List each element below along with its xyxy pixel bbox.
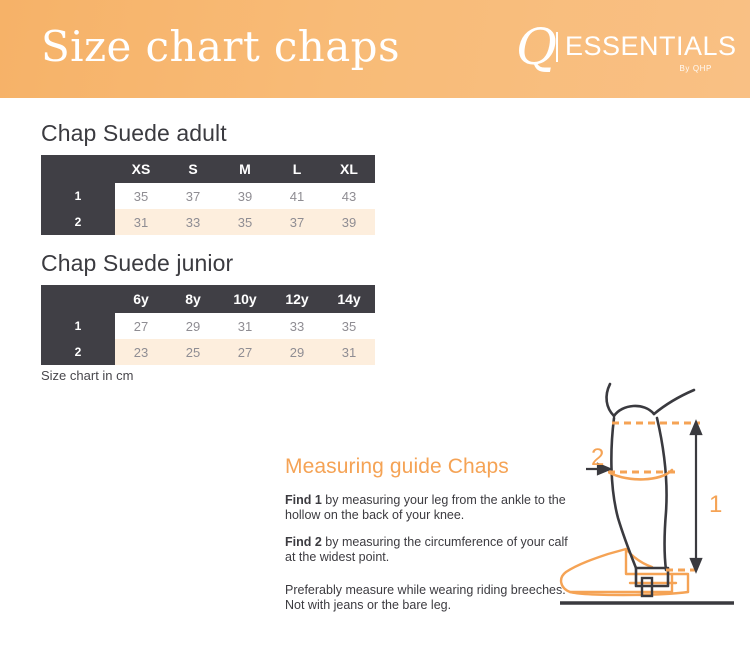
- table-cell: 29: [271, 339, 323, 365]
- column-header-m: M: [219, 155, 271, 183]
- unit-note: Size chart in cm: [41, 368, 133, 383]
- column-header-12y: 12y: [271, 285, 323, 313]
- guide-paragraph-2: Find 2 by measuring the circumference of…: [285, 535, 575, 564]
- guide-paragraph-3: Preferably measure while wearing riding …: [285, 583, 575, 612]
- section-heading-junior: Chap Suede junior: [41, 250, 233, 277]
- guide-text-1: by measuring your leg from the ankle to …: [285, 493, 566, 522]
- measurement-label-2: 2: [591, 444, 604, 472]
- table-cell: 39: [323, 209, 375, 235]
- column-header-s: S: [167, 155, 219, 183]
- table-cell: 31: [115, 209, 167, 235]
- table-row: 1 35 37 39 41 43: [41, 183, 375, 209]
- guide-text-2: by measuring the circumference of your c…: [285, 535, 568, 564]
- table-cell: 41: [271, 183, 323, 209]
- column-header-14y: 14y: [323, 285, 375, 313]
- page-title: Size chart chaps: [41, 22, 400, 71]
- logo-wordmark: ESSENTIALS: [565, 32, 737, 60]
- chaps-illustration: 2 1: [548, 378, 748, 610]
- column-header-corner: [41, 155, 115, 183]
- row-label: 1: [41, 183, 115, 209]
- table-cell: 25: [167, 339, 219, 365]
- section-heading-adult: Chap Suede adult: [41, 120, 227, 147]
- table-cell: 39: [219, 183, 271, 209]
- measure-dashed-lines: [608, 423, 700, 570]
- guide-text-3: Preferably measure while wearing riding …: [285, 583, 566, 612]
- column-header-xs: XS: [115, 155, 167, 183]
- table-cell: 31: [323, 339, 375, 365]
- measuring-guide: Measuring guide Chaps Find 1 by measurin…: [285, 455, 575, 612]
- table-header-row: XS S M L XL: [41, 155, 375, 183]
- table-cell: 35: [115, 183, 167, 209]
- row-label: 2: [41, 339, 115, 365]
- brand-logo: Q ESSENTIALS By QHP: [516, 28, 712, 82]
- table-cell: 35: [323, 313, 375, 339]
- column-header-8y: 8y: [167, 285, 219, 313]
- table-row: 2 31 33 35 37 39: [41, 209, 375, 235]
- table-cell: 43: [323, 183, 375, 209]
- table-cell: 31: [219, 313, 271, 339]
- table-row: 2 23 25 27 29 31: [41, 339, 375, 365]
- table-row: 1 27 29 31 33 35: [41, 313, 375, 339]
- measuring-guide-title: Measuring guide Chaps: [285, 455, 575, 479]
- table-header-row: 6y 8y 10y 12y 14y: [41, 285, 375, 313]
- table-cell: 27: [219, 339, 271, 365]
- row-label: 1: [41, 313, 115, 339]
- column-header-10y: 10y: [219, 285, 271, 313]
- size-table-junior: 6y 8y 10y 12y 14y 1 27 29 31 33 35 2 23 …: [41, 285, 375, 365]
- column-header-corner: [41, 285, 115, 313]
- table-cell: 27: [115, 313, 167, 339]
- logo-subtext: By QHP: [680, 64, 713, 73]
- table-cell: 33: [271, 313, 323, 339]
- column-header-l: L: [271, 155, 323, 183]
- guide-lead-find-2: Find 2: [285, 535, 322, 549]
- table-cell: 37: [167, 183, 219, 209]
- page-banner: Size chart chaps Q ESSENTIALS By QHP: [0, 0, 750, 98]
- size-table-adult: XS S M L XL 1 35 37 39 41 43 2 31 33 35 …: [41, 155, 375, 235]
- table-cell: 33: [167, 209, 219, 235]
- row-label: 2: [41, 209, 115, 235]
- logo-q-mark: Q: [516, 22, 557, 72]
- measurement-label-1: 1: [709, 491, 722, 519]
- chap-leg-outline: [607, 384, 694, 586]
- table-cell: 35: [219, 209, 271, 235]
- guide-lead-find-1: Find 1: [285, 493, 322, 507]
- column-header-xl: XL: [323, 155, 375, 183]
- guide-paragraph-1: Find 1 by measuring your leg from the an…: [285, 493, 575, 522]
- measure-arrow-vertical: [691, 422, 701, 571]
- table-cell: 29: [167, 313, 219, 339]
- column-header-6y: 6y: [115, 285, 167, 313]
- table-cell: 23: [115, 339, 167, 365]
- logo-divider-bar: [556, 32, 558, 62]
- table-cell: 37: [271, 209, 323, 235]
